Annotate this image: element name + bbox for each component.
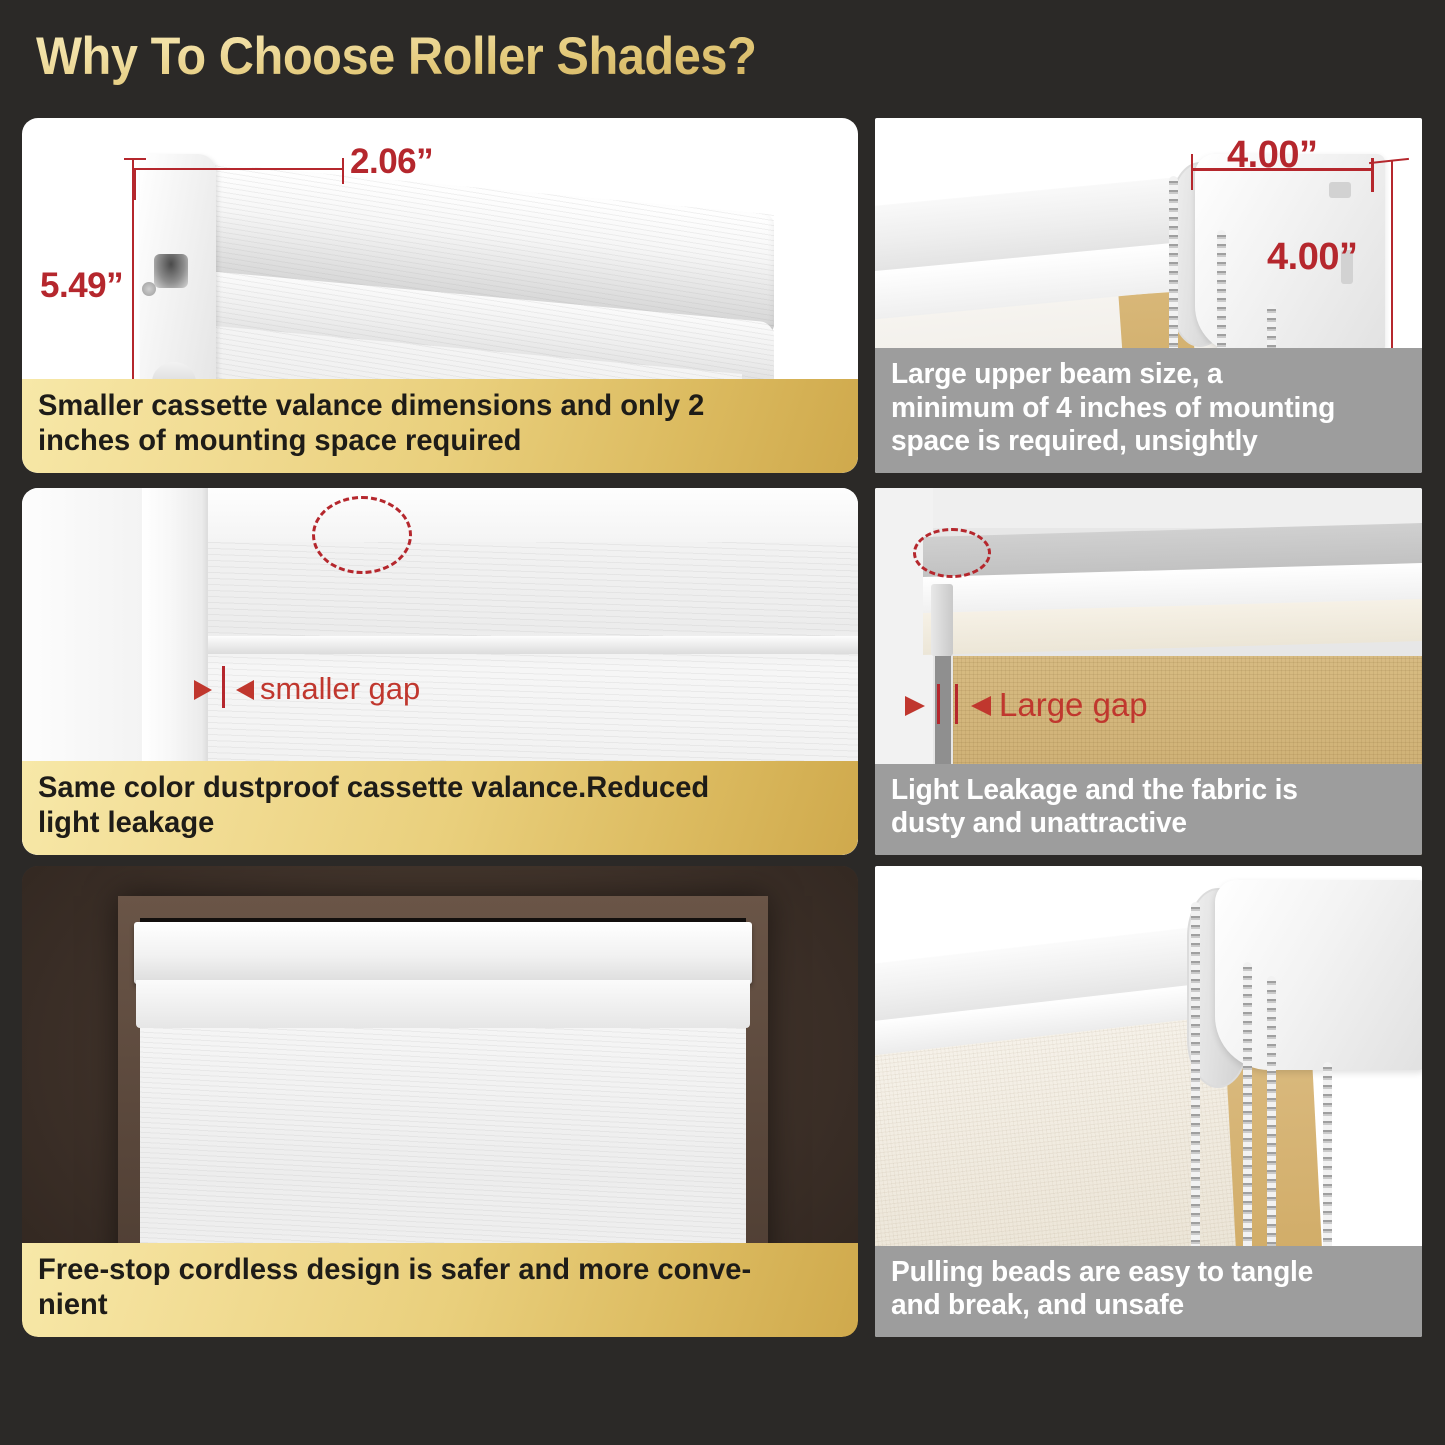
comparison-grid: 5.49” 2.06” Smaller cassette valance dim…	[0, 0, 1445, 1445]
width-dimension-line	[134, 168, 344, 170]
panel-2-caption: Large upper beam size, a minimum of 4 in…	[875, 348, 1422, 473]
caption-line-1: Smaller cassette valance dimensions and …	[38, 389, 818, 424]
gap-arrow-left	[905, 696, 925, 716]
valance-rail	[208, 636, 858, 654]
caption-line-2: light leakage	[38, 806, 818, 841]
caption-line-1: Free-stop cordless design is safer and m…	[38, 1253, 818, 1288]
gap-arrow-right	[971, 696, 991, 716]
gap-arrow-left	[194, 680, 212, 700]
window-frame-head	[142, 488, 858, 542]
panel-1-caption: Smaller cassette valance dimensions and …	[22, 379, 858, 473]
panel-4-caption: Light Leakage and the fabric is dusty an…	[875, 764, 1422, 855]
height-dimension-line	[1391, 160, 1393, 350]
width-dimension-tick-left	[134, 170, 136, 200]
panel-5-caption: Free-stop cordless design is safer and m…	[22, 1243, 858, 1337]
panel-pulling-beads: Pulling beads are easy to tangle and bre…	[875, 866, 1422, 1337]
side-bracket	[931, 584, 953, 656]
endcap-screw	[142, 282, 156, 296]
panel-large-gap: Large gap Light Leakage and the fabric i…	[875, 488, 1422, 855]
caption-line-1: Same color dustproof cassette valance.Re…	[38, 771, 818, 806]
gap-marker-line-1	[937, 684, 940, 724]
background-upper	[875, 488, 1422, 528]
height-dimension-tick-top	[124, 158, 146, 160]
caption-line-2: nient	[38, 1288, 818, 1323]
cassette-valance	[134, 922, 752, 984]
caption-line-2: and break, and unsafe	[891, 1289, 1391, 1323]
width-dimension-tick-right	[342, 158, 344, 184]
bead-chain	[1267, 976, 1276, 1292]
height-dimension-label: 5.49”	[40, 266, 123, 306]
panel-6-caption: Pulling beads are easy to tangle and bre…	[875, 1246, 1422, 1337]
gap-marker-line-2	[955, 684, 958, 724]
caption-line-2: minimum of 4 inches of mounting	[891, 392, 1391, 426]
bead-chain	[1191, 902, 1200, 1292]
smaller-gap-label: smaller gap	[260, 671, 420, 707]
beam-width-label: 4.00”	[1227, 134, 1317, 177]
gap-marker-line	[222, 666, 225, 708]
gap-arrow-right	[236, 680, 254, 700]
caption-line-1: Pulling beads are easy to tangle	[891, 1256, 1391, 1290]
caption-line-2: dusty and unattractive	[891, 807, 1391, 841]
bracket-slot	[1329, 182, 1351, 198]
caption-line-2: inches of mounting space required	[38, 424, 818, 459]
panel-smaller-cassette: 5.49” 2.06” Smaller cassette valance dim…	[22, 118, 858, 473]
width-dimension-tick-left	[1191, 154, 1193, 190]
highlight-circle	[913, 528, 991, 578]
bead-chain	[1243, 962, 1252, 1292]
panel-large-beam: 4.00” 4.00” Large upper beam size, a min…	[875, 118, 1422, 473]
caption-line-1: Large upper beam size, a	[891, 358, 1391, 392]
panel-3-caption: Same color dustproof cassette valance.Re…	[22, 761, 858, 855]
panel-smaller-gap: smaller gap Same color dustproof cassett…	[22, 488, 858, 855]
width-dimension-label: 2.06”	[350, 142, 433, 182]
beam-height-label: 4.00”	[1267, 236, 1357, 279]
large-gap-label: Large gap	[999, 686, 1148, 724]
highlight-circle	[312, 496, 412, 574]
caption-line-3: space is required, unsightly	[891, 425, 1391, 459]
panel-cordless-design: Free-stop cordless design is safer and m…	[22, 866, 858, 1337]
cassette-valance-lip	[136, 980, 750, 1028]
caption-line-1: Light Leakage and the fabric is	[891, 774, 1391, 808]
